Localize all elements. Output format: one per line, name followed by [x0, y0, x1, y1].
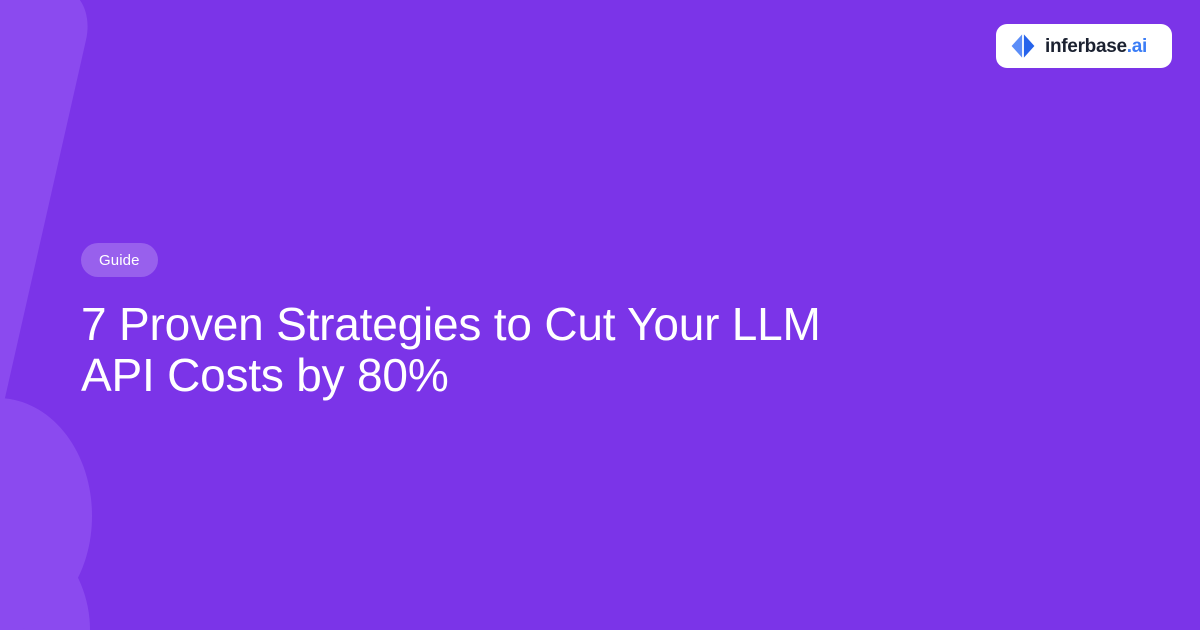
- og-card: inferbase .ai Guide 7 Proven Strategies …: [0, 0, 1200, 630]
- brand-wordmark-name: inferbase: [1045, 37, 1127, 56]
- category-badge[interactable]: Guide: [81, 243, 158, 277]
- top-left-sweep-shape: [0, 0, 88, 420]
- bottom-left-blob-shape: [0, 510, 90, 630]
- brand-wordmark: inferbase .ai: [1045, 37, 1147, 56]
- page-title: 7 Proven Strategies to Cut Your LLM API …: [81, 299, 881, 401]
- content-block: Guide 7 Proven Strategies to Cut Your LL…: [81, 243, 911, 401]
- bottom-left-blob-extension: [0, 398, 92, 630]
- inferbase-diamond-icon: [1010, 33, 1036, 59]
- brand-wordmark-tld: .ai: [1127, 37, 1147, 56]
- brand-logo-chip[interactable]: inferbase .ai: [996, 24, 1172, 68]
